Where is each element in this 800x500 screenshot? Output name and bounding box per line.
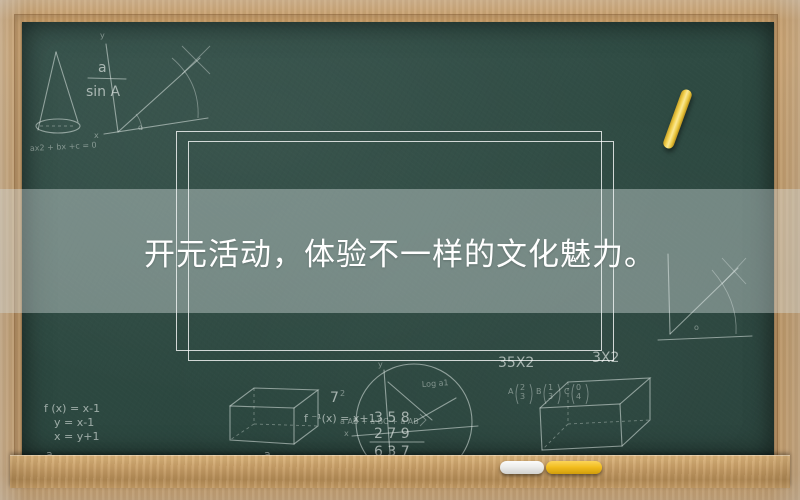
svg-text:o: o: [138, 123, 143, 132]
svg-text:y: y: [378, 360, 383, 369]
ab-expression: a AB + a BC + a AB: [340, 417, 419, 426]
svg-text:y = x-1: y = x-1: [54, 416, 94, 429]
cube-drawing-right: [540, 378, 650, 450]
page-title: 开元活动，体验不一样的文化魅力。: [0, 189, 800, 313]
svg-text:7: 7: [330, 390, 339, 406]
axes-angle-topleft: y x o: [94, 31, 210, 140]
column-addition: 3 5 8 2 7 9 6 3 7: [370, 410, 424, 456]
quadratic-equation: ax2 + bx +c = 0: [30, 141, 97, 153]
circle-graph: y x: [344, 360, 478, 456]
fraction-a-over-sina-topleft: a sin A: [86, 60, 126, 100]
svg-text:x: x: [344, 429, 349, 438]
chalk-ledge: [10, 455, 790, 488]
svg-text:2: 2: [520, 383, 525, 392]
svg-text:o: o: [694, 323, 699, 332]
seven-squared: 7 2: [330, 389, 345, 406]
svg-text:C: C: [564, 387, 570, 396]
svg-text:2: 2: [340, 389, 345, 398]
cone-drawing: [36, 52, 80, 133]
svg-text:4: 4: [576, 392, 581, 401]
function-equations: f (x) = x-1 y = x-1 x = y+1: [44, 402, 100, 443]
inverse-function: f ⁻¹(x) = x+1: [304, 412, 376, 425]
chalkboard-banner: a sin A ax2 + bx +c = 0 y x o: [0, 0, 800, 500]
svg-text:A: A: [508, 387, 514, 396]
yellow-chalk-icon: [546, 461, 602, 474]
white-chalk-icon: [500, 461, 544, 474]
svg-text:0: 0: [576, 383, 581, 392]
floating-yellow-chalk-icon: [662, 88, 694, 150]
svg-text:2 7 9: 2 7 9: [374, 426, 410, 442]
svg-text:3 5 8: 3 5 8: [374, 410, 410, 426]
svg-text:B: B: [536, 387, 542, 396]
svg-text:3: 3: [548, 392, 553, 401]
svg-text:1: 1: [548, 383, 553, 392]
log-label: Log a1: [422, 378, 449, 389]
svg-text:y: y: [100, 31, 105, 40]
svg-text:3: 3: [520, 392, 525, 401]
svg-text:x = y+1: x = y+1: [54, 430, 99, 443]
svg-text:x: x: [94, 131, 99, 140]
svg-text:f (x) = x-1: f (x) = x-1: [44, 402, 100, 415]
svg-text:a: a: [98, 60, 107, 76]
cube-drawing-center: [230, 388, 318, 444]
svg-text:sin A: sin A: [86, 84, 121, 100]
matrix-row: A 2 3 B 1 3 C 0 4: [508, 383, 588, 404]
